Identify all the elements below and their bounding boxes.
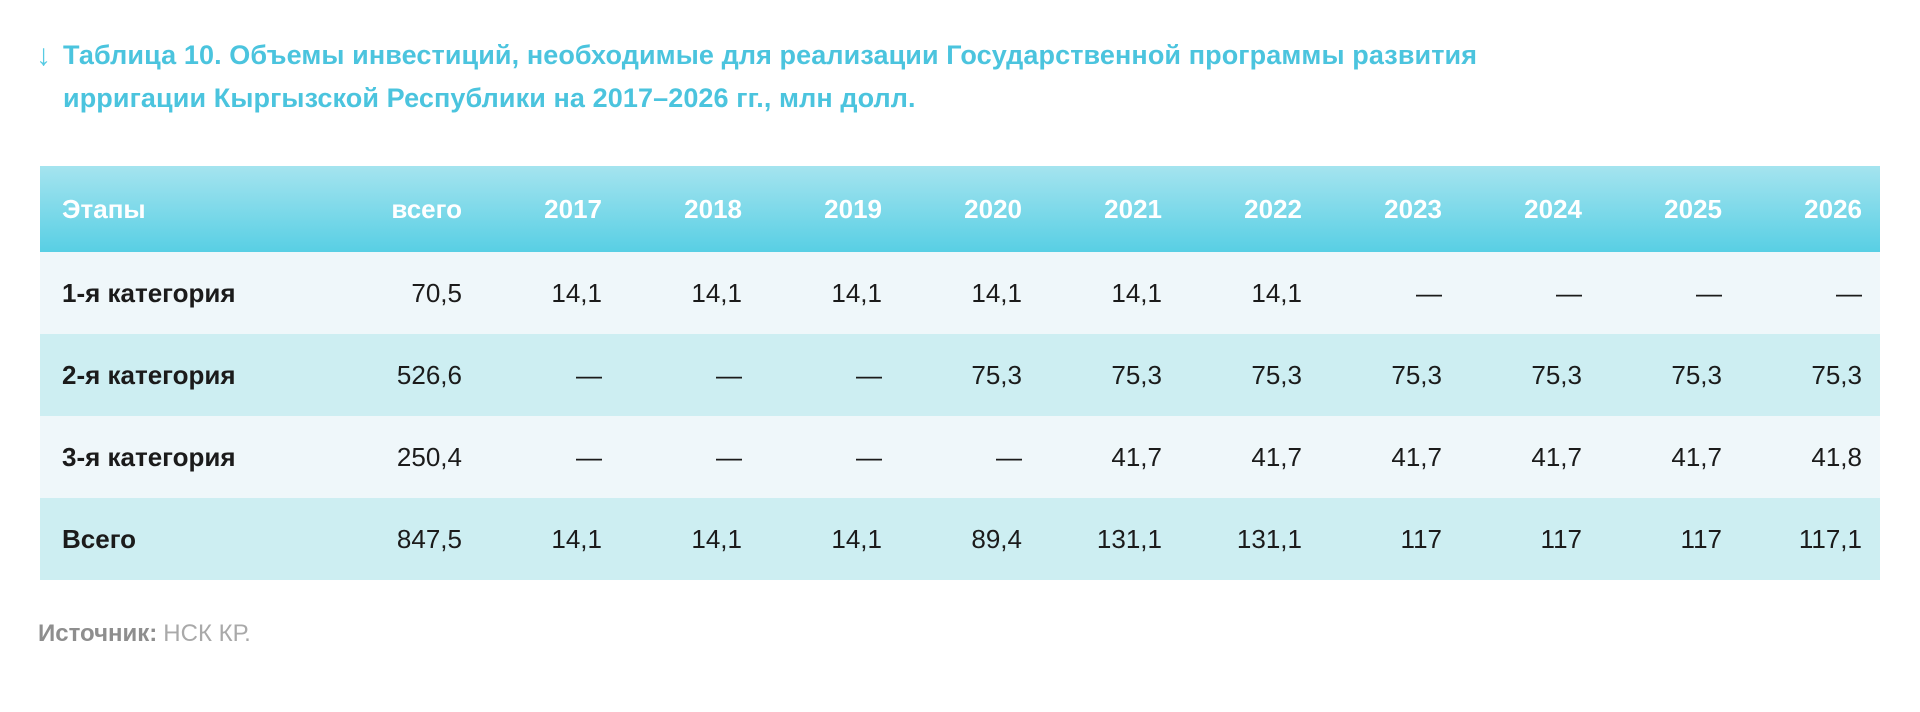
cell-2021: 41,7	[1040, 416, 1180, 498]
cell-2023: —	[1320, 252, 1460, 334]
cell-2025: —	[1600, 252, 1740, 334]
table-row-total: Всего 847,5 14,1 14,1 14,1 89,4 131,1 13…	[40, 498, 1880, 580]
cell-2026: 117,1	[1740, 498, 1880, 580]
cell-2026: —	[1740, 252, 1880, 334]
figure-caption: ↓ Таблица 10. Объемы инвестиций, необход…	[36, 34, 1836, 120]
cell-2017: 14,1	[480, 498, 620, 580]
cell-2018: 14,1	[620, 252, 760, 334]
source-value: НСК КР.	[163, 620, 250, 647]
cell-2024: —	[1460, 252, 1600, 334]
cell-total: 526,6	[330, 334, 480, 416]
cell-2025: 41,7	[1600, 416, 1740, 498]
cell-2020: —	[900, 416, 1040, 498]
cell-2019: 14,1	[760, 498, 900, 580]
column-header-2022: 2022	[1180, 166, 1320, 252]
investments-table: Этапы всего 2017 2018 2019 2020 2021 202…	[40, 166, 1880, 580]
cell-total: 250,4	[330, 416, 480, 498]
column-header-2018: 2018	[620, 166, 760, 252]
cell-2019: —	[760, 416, 900, 498]
table-header-row: Этапы всего 2017 2018 2019 2020 2021 202…	[40, 166, 1880, 252]
cell-2017: —	[480, 334, 620, 416]
cell-2021: 75,3	[1040, 334, 1180, 416]
cell-2020: 14,1	[900, 252, 1040, 334]
column-header-2021: 2021	[1040, 166, 1180, 252]
cell-2026: 75,3	[1740, 334, 1880, 416]
row-label: 2-я категория	[40, 334, 330, 416]
investments-table-container: Этапы всего 2017 2018 2019 2020 2021 202…	[40, 166, 1880, 580]
column-header-2024: 2024	[1460, 166, 1600, 252]
table-header: Этапы всего 2017 2018 2019 2020 2021 202…	[40, 166, 1880, 252]
cell-2022: 14,1	[1180, 252, 1320, 334]
cell-2018: 14,1	[620, 498, 760, 580]
row-label: 3-я категория	[40, 416, 330, 498]
page-title: Таблица 10. Объемы инвестиций, необходим…	[63, 34, 1483, 120]
row-label: 1-я категория	[40, 252, 330, 334]
source-note: Источник:НСК КР.	[38, 620, 251, 648]
column-header-2019: 2019	[760, 166, 900, 252]
column-header-total: всего	[330, 166, 480, 252]
cell-2024: 41,7	[1460, 416, 1600, 498]
column-header-2023: 2023	[1320, 166, 1460, 252]
cell-2023: 75,3	[1320, 334, 1460, 416]
cell-2021: 14,1	[1040, 252, 1180, 334]
cell-2019: —	[760, 334, 900, 416]
table-body: 1-я категория 70,5 14,1 14,1 14,1 14,1 1…	[40, 252, 1880, 580]
cell-2022: 41,7	[1180, 416, 1320, 498]
column-header-2026: 2026	[1740, 166, 1880, 252]
cell-2017: 14,1	[480, 252, 620, 334]
cell-2018: —	[620, 334, 760, 416]
row-label: Всего	[40, 498, 330, 580]
cell-total: 847,5	[330, 498, 480, 580]
source-label: Источник:	[38, 620, 157, 647]
table-figure-page: ↓ Таблица 10. Объемы инвестиций, необход…	[0, 0, 1920, 712]
cell-2023: 117	[1320, 498, 1460, 580]
cell-2022: 131,1	[1180, 498, 1320, 580]
table-row: 2-я категория 526,6 — — — 75,3 75,3 75,3…	[40, 334, 1880, 416]
cell-2024: 117	[1460, 498, 1600, 580]
cell-2026: 41,8	[1740, 416, 1880, 498]
column-header-2020: 2020	[900, 166, 1040, 252]
cell-2020: 89,4	[900, 498, 1040, 580]
cell-2022: 75,3	[1180, 334, 1320, 416]
cell-2025: 75,3	[1600, 334, 1740, 416]
column-header-stages: Этапы	[40, 166, 330, 252]
cell-2020: 75,3	[900, 334, 1040, 416]
cell-2019: 14,1	[760, 252, 900, 334]
down-arrow-icon: ↓	[36, 34, 51, 77]
table-row: 1-я категория 70,5 14,1 14,1 14,1 14,1 1…	[40, 252, 1880, 334]
table-row: 3-я категория 250,4 — — — — 41,7 41,7 41…	[40, 416, 1880, 498]
column-header-2017: 2017	[480, 166, 620, 252]
cell-2025: 117	[1600, 498, 1740, 580]
cell-2024: 75,3	[1460, 334, 1600, 416]
cell-2017: —	[480, 416, 620, 498]
cell-2018: —	[620, 416, 760, 498]
cell-2021: 131,1	[1040, 498, 1180, 580]
cell-2023: 41,7	[1320, 416, 1460, 498]
column-header-2025: 2025	[1600, 166, 1740, 252]
cell-total: 70,5	[330, 252, 480, 334]
